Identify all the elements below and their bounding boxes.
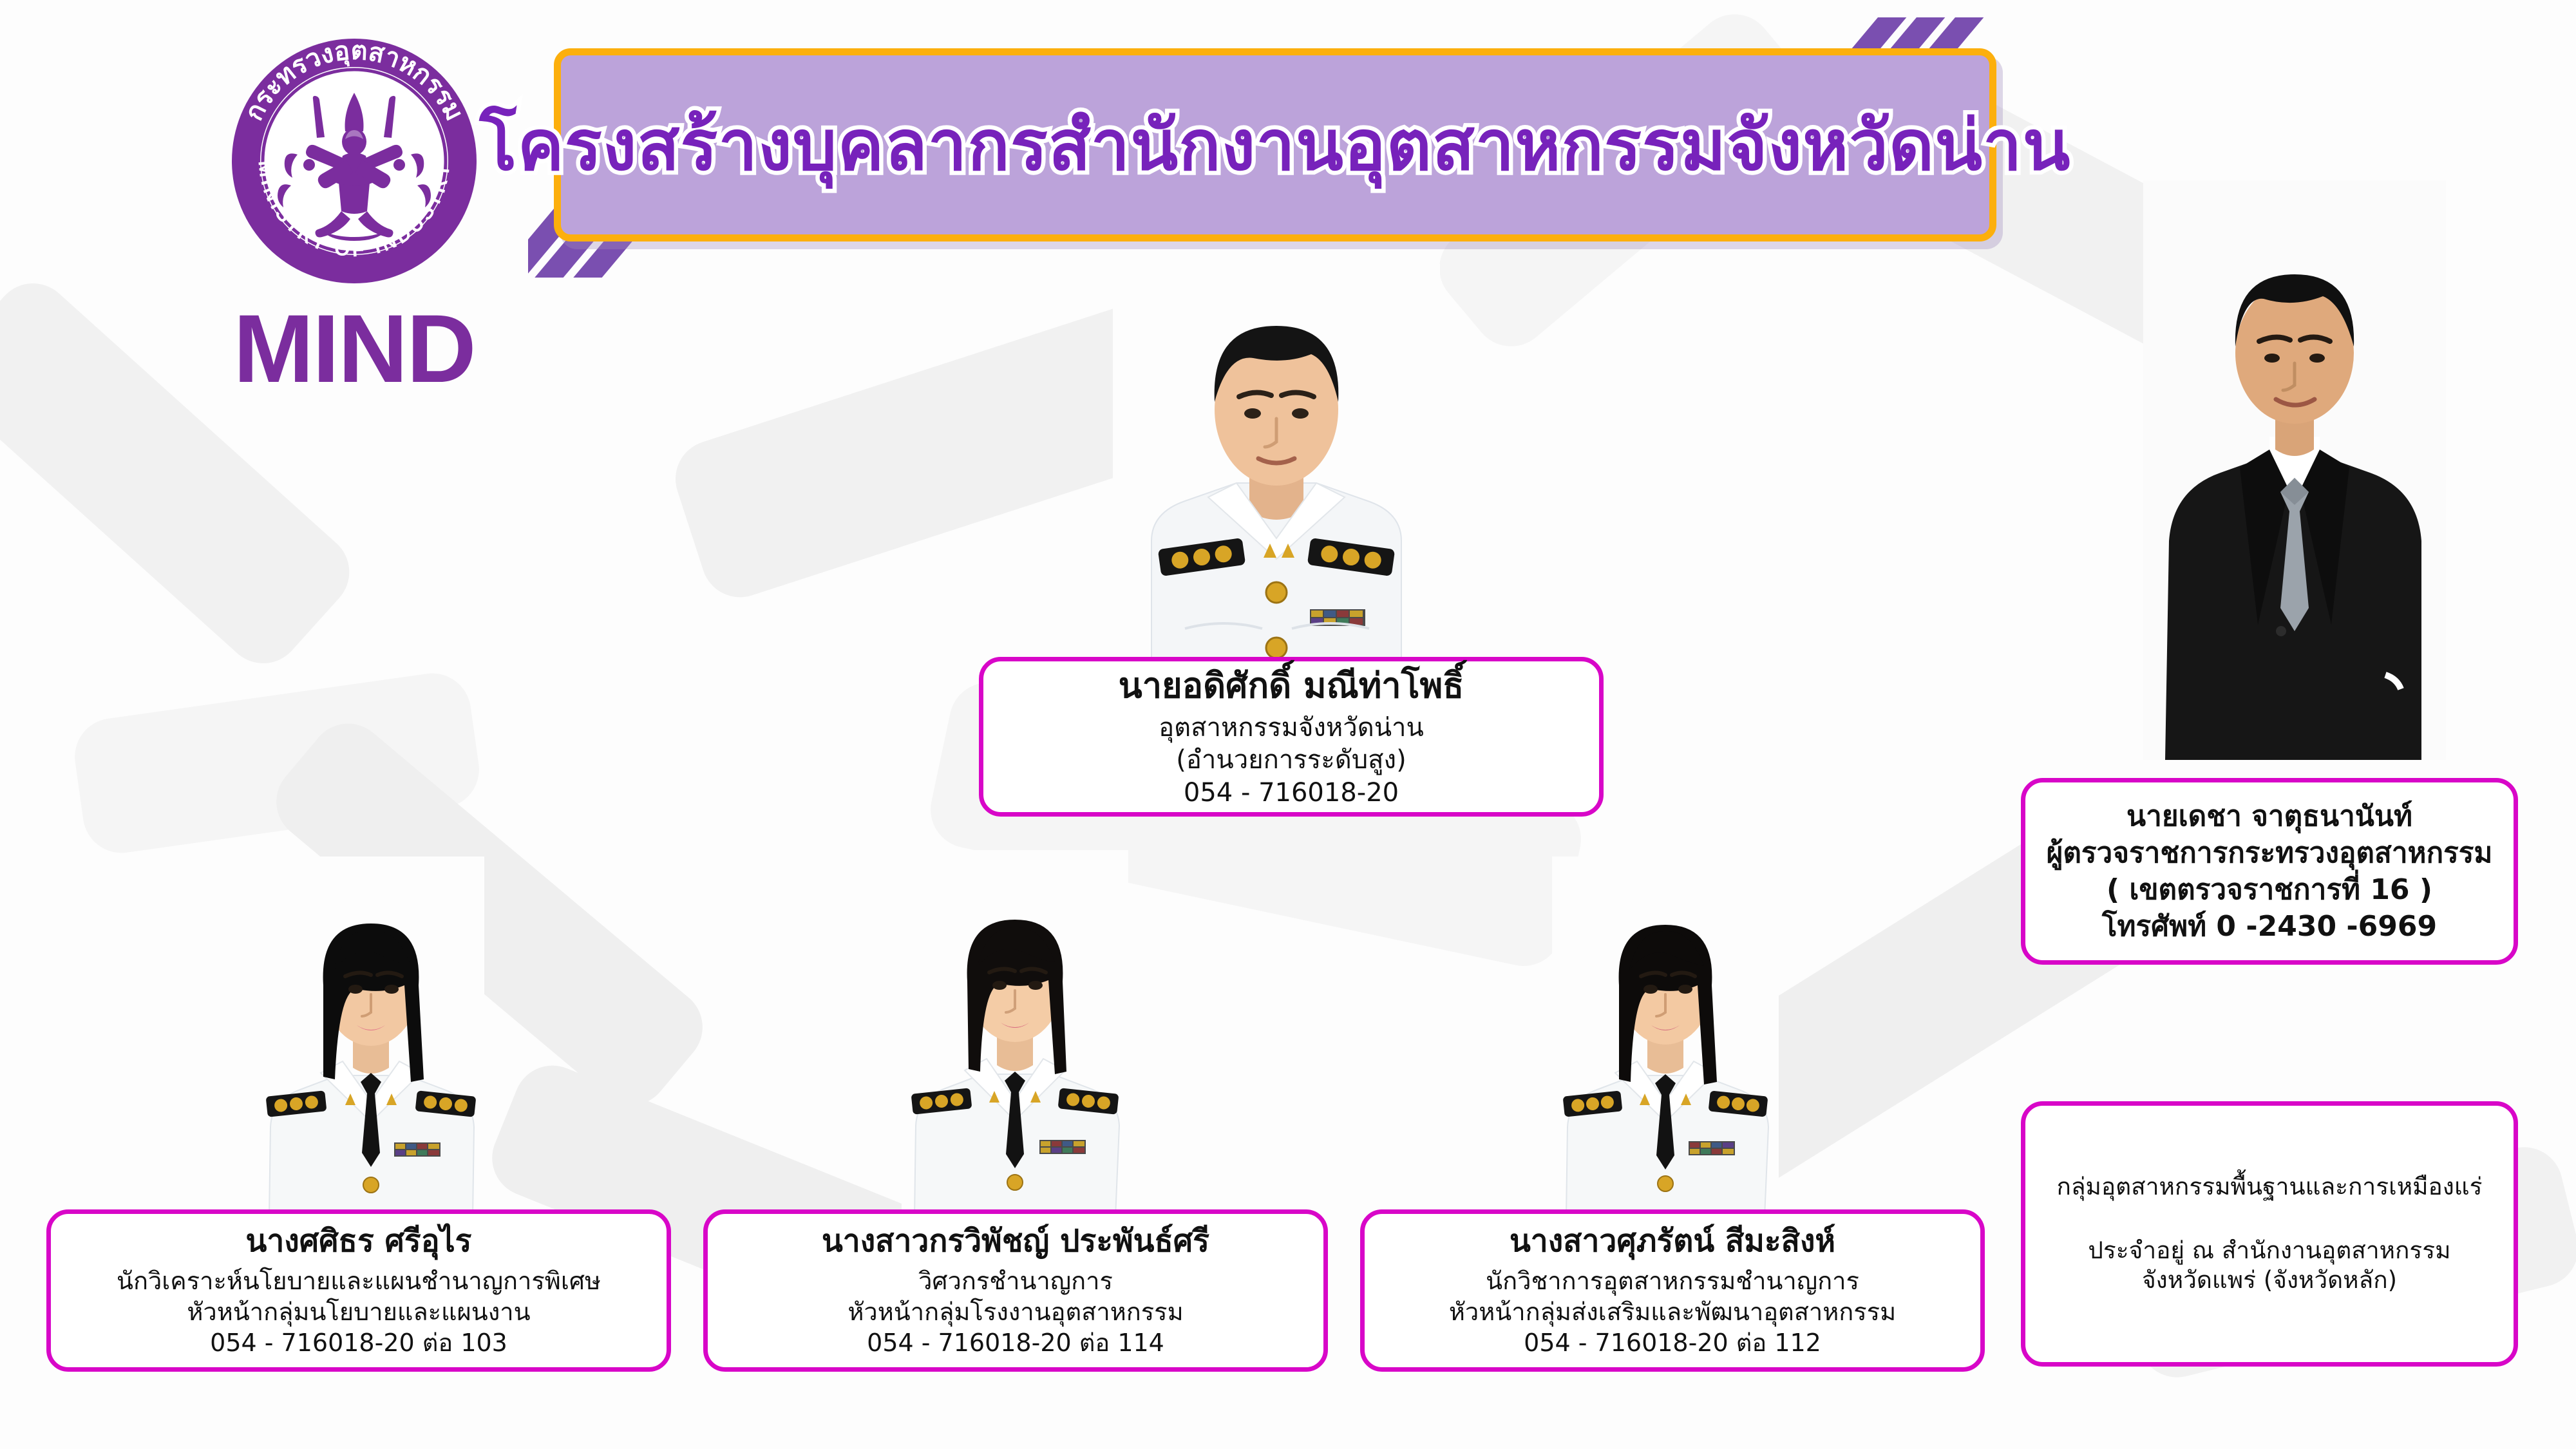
- card-staff-2[interactable]: นางสาวกรวิพัชญ์ ประพันธ์ศรี วิศวกรชำนาญก…: [703, 1209, 1328, 1372]
- staff-1-name: นางศศิธร ศรีอุไร: [246, 1222, 472, 1261]
- inspector-zone: ( เขตตรวจราชการที่ 16 ): [2107, 871, 2432, 908]
- basic-group-location-line1: ประจำอยู่ ณ สำนักงานอุตสาหกรรม: [2088, 1236, 2450, 1266]
- staff-2-phone: 054 - 716018-20 ต่อ 114: [867, 1328, 1164, 1359]
- staff-2-role: หัวหน้ากลุ่มโรงงานอุตสาหกรรม: [848, 1297, 1183, 1328]
- ministry-of-industry-seal-icon: กระทรวงอุตสาหกรรม MINISTRY OF INDUSTRY: [219, 26, 489, 296]
- director-position: อุตสาหกรรมจังหวัดน่าน: [1159, 712, 1424, 744]
- card-staff-1[interactable]: นางศศิธร ศรีอุไร นักวิเคราะห์นโยบายและแผ…: [46, 1209, 671, 1372]
- card-staff-3[interactable]: นางสาวศุภรัตน์ สีมะสิงห์ นักวิชาการอุตสา…: [1360, 1209, 1985, 1372]
- page-title: โครงสร้างบุคลากรสำนักงานอุตสาหกรรมจังหวั…: [480, 90, 2071, 200]
- page-title-banner: โครงสร้างบุคลากรสำนักงานอุตสาหกรรมจังหวั…: [554, 48, 1996, 241]
- staff-3-name: นางสาวศุภรัตน์ สีมะสิงห์: [1510, 1222, 1835, 1261]
- photo-staff-3: [1552, 857, 1779, 1217]
- ministry-logo: กระทรวงอุตสาหกรรม MINISTRY OF INDUSTRY: [174, 26, 535, 425]
- card-basic-industry-group[interactable]: กลุ่มอุตสาหกรรมพื้นฐานและการเหมืองแร่ ปร…: [2021, 1101, 2518, 1367]
- photo-staff-2: [902, 850, 1128, 1217]
- title-banner-wrapper: โครงสร้างบุคลากรสำนักงานอุตสาหกรรมจังหวั…: [554, 48, 1996, 241]
- photo-staff-1: [258, 857, 484, 1217]
- staff-2-name: นางสาวกรวิพัชญ์ ประพันธ์ศรี: [822, 1222, 1209, 1261]
- director-level: (อำนวยการระดับสูง): [1176, 744, 1406, 776]
- inspector-name: นายเดชา จาตุธนานันท์: [2126, 798, 2412, 835]
- photo-director: [1113, 264, 1440, 663]
- card-director[interactable]: นายอดิศักดิ์ มณีท่าโพธิ์ อุตสาหกรรมจังหว…: [979, 657, 1604, 817]
- director-name: นายอดิศักดิ์ มณีท่าโพธิ์: [1119, 665, 1464, 708]
- staff-1-position: นักวิเคราะห์นโยบายและแผนชำนาญการพิเศษ: [117, 1266, 601, 1297]
- staff-3-position: นักวิชาการอุตสาหกรรมชำนาญการ: [1486, 1266, 1859, 1297]
- inspector-phone: โทรศัพท์ 0 -2430 -6969: [2102, 908, 2437, 945]
- org-chart-page: กระทรวงอุตสาหกรรม MINISTRY OF INDUSTRY: [0, 0, 2576, 1449]
- staff-2-position: วิศวกรชำนาญการ: [918, 1266, 1113, 1297]
- inspector-position: ผู้ตรวจราชการกระทรวงอุตสาหกรรม: [2047, 835, 2493, 871]
- basic-group-location-line2: จังหวัดแพร่ (จังหวัดหลัก): [2142, 1265, 2397, 1296]
- staff-1-role: หัวหน้ากลุ่มนโยบายและแผนงาน: [187, 1297, 530, 1328]
- staff-3-role: หัวหน้ากลุ่มส่งเสริมและพัฒนาอุตสาหกรรม: [1449, 1297, 1896, 1328]
- photo-inspector: [2143, 180, 2446, 760]
- staff-1-phone: 054 - 716018-20 ต่อ 103: [210, 1328, 507, 1359]
- mind-wordmark: MIND: [174, 300, 535, 397]
- basic-group-title: กลุ่มอุตสาหกรรมพื้นฐานและการเหมืองแร่: [2056, 1172, 2482, 1202]
- director-phone: 054 - 716018-20: [1184, 777, 1399, 809]
- staff-3-phone: 054 - 716018-20 ต่อ 112: [1524, 1328, 1821, 1359]
- card-inspector[interactable]: นายเดชา จาตุธนานันท์ ผู้ตรวจราชการกระทรว…: [2021, 778, 2518, 965]
